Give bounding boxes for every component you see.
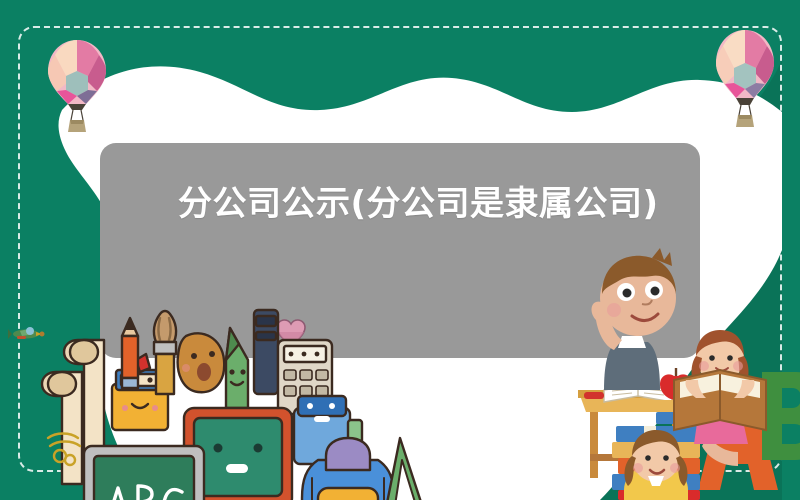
pencil — [122, 318, 138, 388]
school-supplies-illustration — [26, 288, 446, 500]
hot-air-balloon-icon — [710, 28, 780, 133]
paintbrush — [154, 311, 176, 394]
chalkboard — [84, 446, 204, 500]
children-illustration — [556, 240, 800, 500]
marker — [254, 310, 278, 394]
hot-air-balloon-icon — [42, 38, 112, 138]
page-title: 分公司公示(分公司是隶属公司) — [178, 180, 698, 228]
bean-character — [178, 333, 225, 392]
letter-b — [762, 372, 800, 460]
poster-canvas: 分公司公示(分公司是隶属公司) — [0, 0, 800, 500]
crayon-character — [226, 328, 248, 408]
